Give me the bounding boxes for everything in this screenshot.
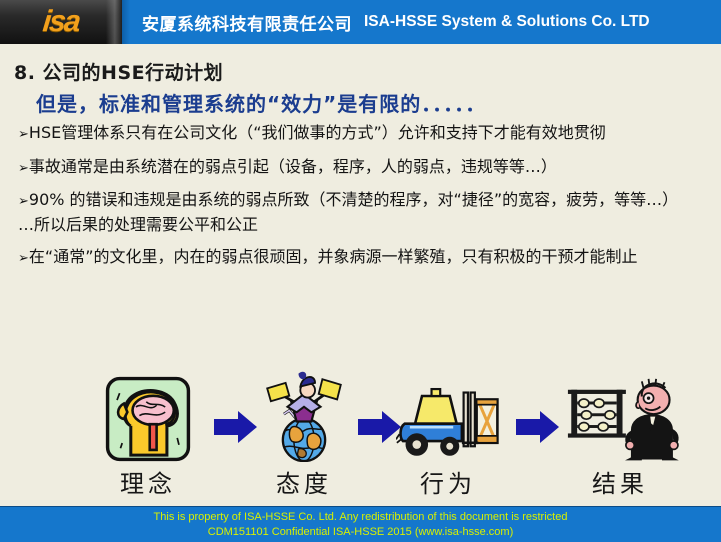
person-on-globe-icon	[252, 374, 356, 462]
bullet-marker-icon: ➢	[18, 251, 29, 266]
header-title-english: ISA-HSSE System & Solutions Co. LTD	[364, 13, 650, 31]
footer-line-1: This is property of ISA-HSSE Co. Ltd. An…	[0, 510, 721, 525]
header-title-bar: 安厦系统科技有限责任公司 ISA-HSSE System & Solutions…	[122, 0, 721, 44]
bullet-marker-icon: ➢	[18, 161, 29, 176]
isa-logo-text: isa	[41, 5, 80, 39]
chain-step-1: 理念	[96, 374, 200, 499]
chain-step-1-label: 理念	[96, 464, 200, 499]
chain-step-4-label: 结果	[558, 464, 682, 499]
slide-footer: This is property of ISA-HSSE Co. Ltd. An…	[0, 506, 721, 542]
list-item: ➢HSE管理体系只有在公司文化（“我们做事的方式”）允许和支持下才能有效地贯彻	[18, 122, 706, 145]
chain-step-3-label: 行为	[396, 464, 500, 499]
culture-chain-diagram: 理念	[0, 374, 721, 506]
list-item-text: 在“通常”的文化里，内在的弱点很顽固，并象病源一样繁殖，只有积极的干预才能制止	[29, 247, 638, 266]
list-item: …所以后果的处理需要公平和公正	[18, 214, 706, 237]
chain-step-2: 态度	[252, 374, 356, 499]
chain-step-2-label: 态度	[252, 464, 356, 499]
list-item-text: HSE管理体系只有在公司文化（“我们做事的方式”）允许和支持下才能有效地贯彻	[29, 123, 606, 142]
chain-step-3: 行为	[396, 374, 500, 499]
bullet-marker-icon: ➢	[18, 127, 29, 142]
list-item: ➢事故通常是由系统潜在的弱点引起（设备，程序，人的弱点，违规等等…）	[18, 156, 706, 179]
abacus-businessman-icon	[558, 374, 682, 462]
list-item-text: …所以后果的处理需要公平和公正	[18, 215, 258, 234]
list-item: ➢在“通常”的文化里，内在的弱点很顽固，并象病源一样繁殖，只有积极的干预才能制止	[18, 246, 706, 269]
slide-header: isa 安厦系统科技有限责任公司 ISA-HSSE System & Solut…	[0, 0, 721, 44]
chain-arrow-3-icon	[516, 410, 560, 444]
slide-root: isa 安厦系统科技有限责任公司 ISA-HSSE System & Solut…	[0, 0, 721, 542]
bullet-marker-icon: ➢	[18, 194, 29, 209]
header-title-chinese: 安厦系统科技有限责任公司	[142, 10, 352, 35]
slide-content: 8. 公司的HSE行动计划 但是，标准和管理系统的“效力”是有限的．．．．． ➢…	[0, 44, 721, 506]
chain-step-4: 结果	[558, 374, 682, 499]
slide-subtitle: 但是，标准和管理系统的“效力”是有限的．．．．．	[36, 88, 486, 117]
list-item: ➢90% 的错误和违规是由系统的弱点所致（不清楚的程序，对“捷径”的宽容，疲劳，…	[18, 189, 706, 212]
head-brain-icon	[96, 374, 200, 462]
page-title: 8. 公司的HSE行动计划	[14, 58, 223, 85]
footer-line-2: CDM151101 Confidential ISA-HSSE 2015 (ww…	[0, 525, 721, 540]
forklift-icon	[396, 374, 500, 462]
list-item-text: 事故通常是由系统潜在的弱点引起（设备，程序，人的弱点，违规等等…）	[29, 157, 557, 176]
company-logo: isa	[0, 0, 122, 44]
list-item-text: 90% 的错误和违规是由系统的弱点所致（不清楚的程序，对“捷径”的宽容，疲劳，等…	[29, 190, 678, 209]
bullet-list: ➢HSE管理体系只有在公司文化（“我们做事的方式”）允许和支持下才能有效地贯彻 …	[18, 122, 706, 280]
